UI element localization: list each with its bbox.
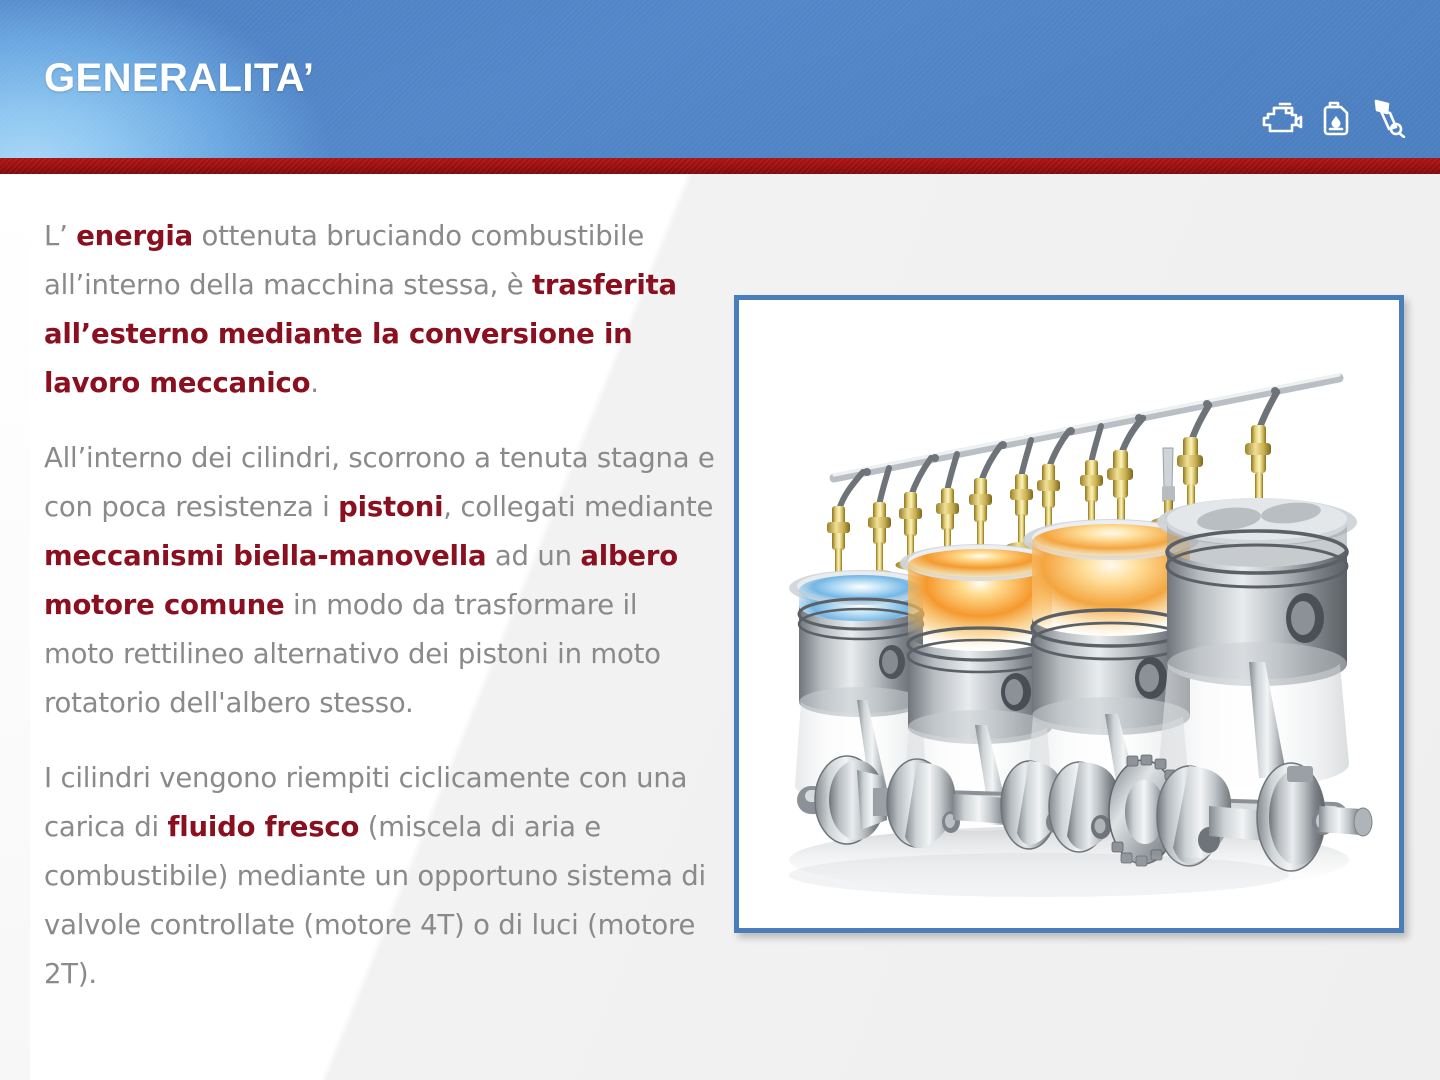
engine-diagram-svg [739,300,1389,918]
piston-conrod-icon[interactable] [1370,98,1406,138]
cylinder-4 [1157,498,1357,787]
engine-block-icon[interactable] [1260,100,1304,136]
page-title: GENERALITA’ [44,56,314,101]
figure-frame[interactable] [734,295,1404,933]
engine-cutaway-illustration [739,300,1399,928]
paragraph-3: I cilindri vengono riempiti ciclicamente… [44,754,716,999]
header-red-band [0,158,1440,174]
slide-root: GENERALITA’ [0,0,1440,1080]
slide-left-edge-strip [0,173,30,1080]
oil-canister-icon[interactable] [1320,99,1354,137]
body-text-column: L’ energia ottenuta bruciando combustibi… [44,212,716,1025]
header-icon-group [1260,98,1406,138]
slide-header: GENERALITA’ [0,0,1440,158]
paragraph-1: L’ energia ottenuta bruciando combustibi… [44,212,716,408]
paragraph-2: All’interno dei cilindri, scorrono a ten… [44,434,716,728]
